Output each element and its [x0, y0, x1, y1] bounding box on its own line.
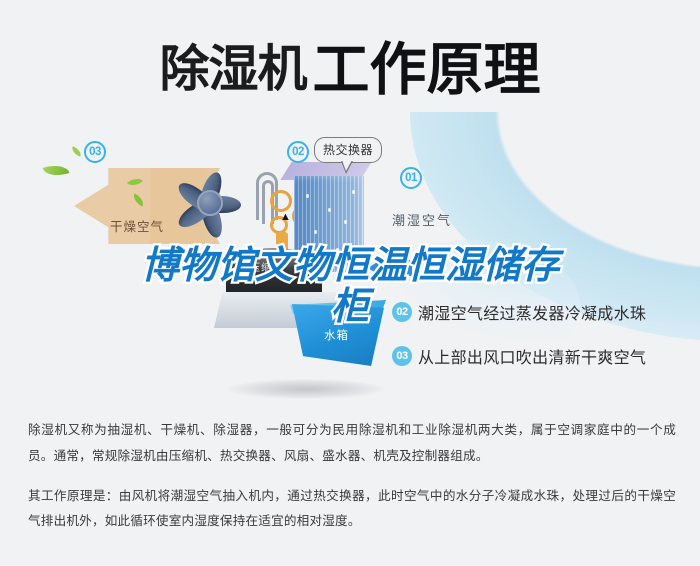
flow-arrow-up-icon: ▲	[280, 212, 291, 223]
humid-air-label: 潮湿空气	[392, 210, 452, 229]
step-label: 潮湿空气经过蒸发器冷凝成水珠	[418, 300, 646, 324]
heat-exchanger-callout-label: 热交换器	[323, 143, 373, 157]
diagram-badge-03: 03	[84, 141, 106, 163]
step-badge: 02	[392, 302, 412, 322]
page-title-part2: 工作原理	[313, 38, 541, 102]
coil-icon	[270, 190, 292, 212]
list-item: 02 潮湿空气经过蒸发器冷凝成水珠	[392, 300, 646, 324]
leaf-icon	[43, 161, 70, 181]
fan-icon	[170, 160, 252, 246]
body-paragraph-1: 除湿机又称为抽湿机、干燥机、除湿器，一般可分为民用除湿机和工业除湿机两大类，属于…	[28, 418, 676, 470]
body-copy: 除湿机又称为抽湿机、干燥机、除湿器，一般可分为民用除湿机和工业除湿机两大类，属于…	[28, 418, 676, 535]
page-title-part1: 除湿机	[160, 41, 307, 97]
body-paragraph-2: 其工作原理是：由风机将潮湿空气抽入机内，通过热交换器，此时空气中的水分子冷凝成水…	[28, 484, 676, 536]
steps-list: 02 潮湿空气经过蒸发器冷凝成水珠 03 从上部出风口吹出清新干爽空气	[392, 300, 646, 388]
intake-arrow-icon	[368, 260, 412, 276]
floor-shadow	[206, 376, 406, 402]
step-badge: 03	[392, 346, 412, 366]
water-tank-label: 水箱	[324, 327, 349, 343]
diagram-badge-01: 01	[400, 167, 422, 189]
dry-air-label: 干燥空气	[110, 216, 164, 235]
leaf-icon	[70, 146, 83, 157]
page-title: 除湿机工作原理	[0, 24, 700, 106]
step-label: 从上部出风口吹出清新干爽空气	[418, 344, 646, 368]
infographic-page: 除湿机工作原理 干燥空气 ▶	[0, 0, 700, 566]
heat-exchanger-callout: 热交换器	[314, 137, 382, 163]
diagram-badge-02: 02	[287, 141, 309, 163]
list-item: 03 从上部出风口吹出清新干爽空气	[392, 344, 646, 368]
compressor-label: 压缩机	[250, 259, 283, 274]
